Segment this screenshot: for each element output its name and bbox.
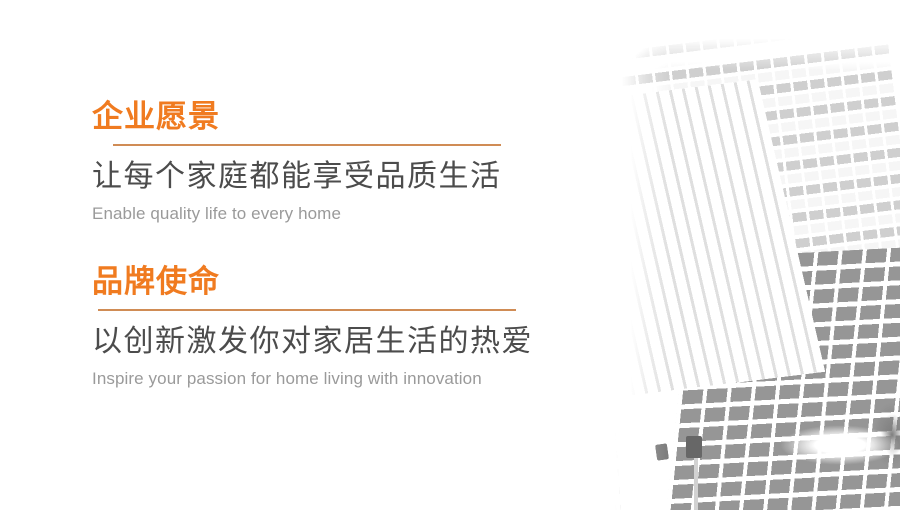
vision-block: 企业愿景 让每个家庭都能享受品质生活 Enable quality life t…: [92, 98, 522, 225]
mission-block: 品牌使命 以创新激发你对家居生活的热爱 Inspire your passion…: [92, 263, 522, 390]
mission-subtitle-cn: 以创新激发你对家居生活的热爱: [92, 323, 522, 361]
street-lamp-pole: [540, 430, 544, 510]
vision-divider: [113, 144, 501, 146]
vision-subtitle-cn: 让每个家庭都能享受品质生活: [92, 158, 522, 196]
traffic-signal-secondary-icon: [655, 443, 669, 461]
mission-subtitle-en: Inspire your passion for home living wit…: [92, 368, 522, 390]
vision-subtitle-en: Enable quality life to every home: [92, 203, 522, 225]
street-light-glow: [780, 425, 900, 465]
mission-heading: 品牌使命: [92, 263, 522, 301]
vision-mission-banner: 大道 企业愿景 让每个家庭都能享受品质生活 Enable quality lif…: [0, 0, 900, 510]
traffic-signal-icon: [686, 436, 702, 458]
vision-heading: 企业愿景: [92, 98, 522, 136]
building-signage: 大道: [576, 430, 634, 464]
mission-divider: [98, 309, 516, 311]
text-content: 企业愿景 让每个家庭都能享受品质生活 Enable quality life t…: [92, 0, 522, 510]
building-photo: 大道: [480, 0, 900, 510]
